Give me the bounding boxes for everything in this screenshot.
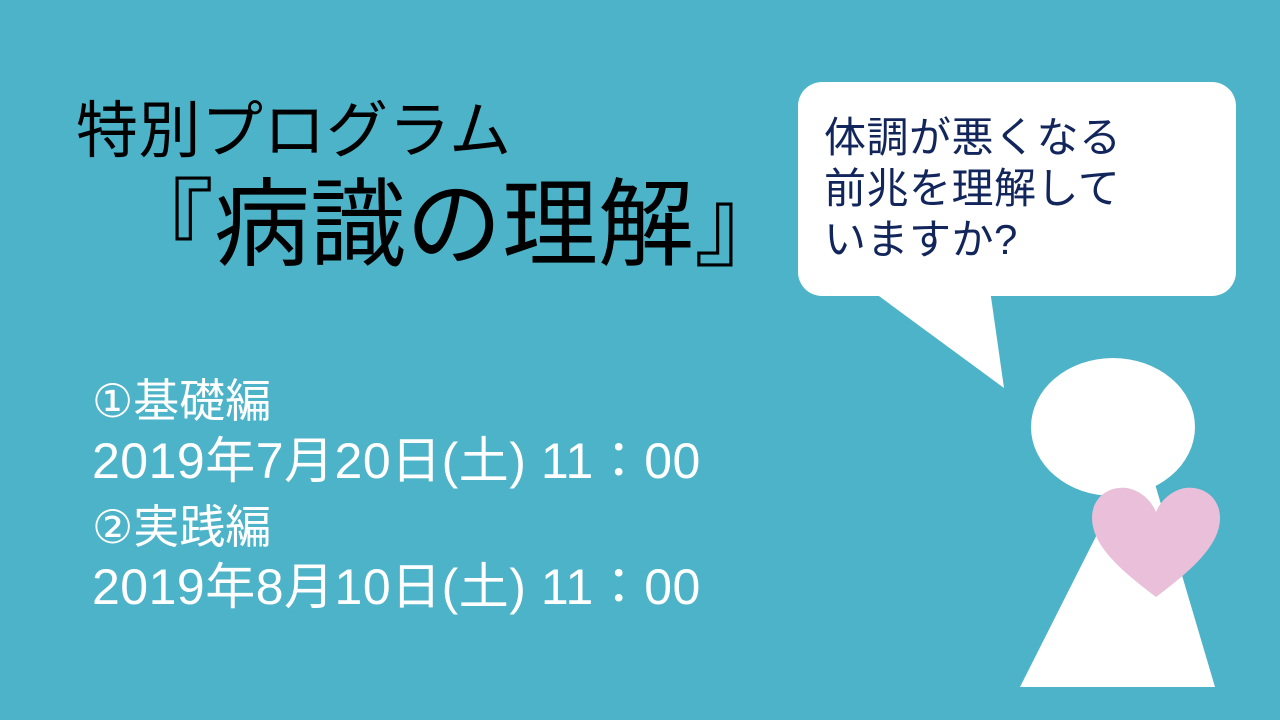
speech-bubble: 体調が悪くなる 前兆を理解して いますか? [798, 82, 1238, 392]
session-2-label: ②実践編 [92, 498, 952, 556]
person-figure-icon [1000, 355, 1280, 700]
speech-bubble-line-2: 前兆を理解して [824, 163, 1236, 214]
speech-bubble-line-1: 体調が悪くなる [824, 112, 1236, 163]
session-1-datetime: 2019年7月20日(土) 11：00 [92, 430, 952, 492]
person-figure [1000, 355, 1280, 700]
speech-bubble-body: 体調が悪くなる 前兆を理解して いますか? [798, 82, 1236, 296]
schedule-list: ①基礎編 2019年7月20日(土) 11：00 ②実践編 2019年8月10日… [92, 372, 952, 618]
schedule-session-2: ②実践編 2019年8月10日(土) 11：00 [92, 498, 952, 618]
title-block: 特別プログラム 『病識の理解』 [0, 96, 800, 278]
speech-bubble-line-3: いますか? [824, 214, 1236, 265]
person-head-icon [1031, 358, 1195, 496]
page-title: 『病識の理解』 [0, 168, 800, 278]
slide-canvas: 特別プログラム 『病識の理解』 ①基礎編 2019年7月20日(土) 11：00… [0, 0, 1280, 720]
title-eyebrow: 特別プログラム [0, 96, 800, 168]
session-2-datetime: 2019年8月10日(土) 11：00 [92, 556, 952, 618]
